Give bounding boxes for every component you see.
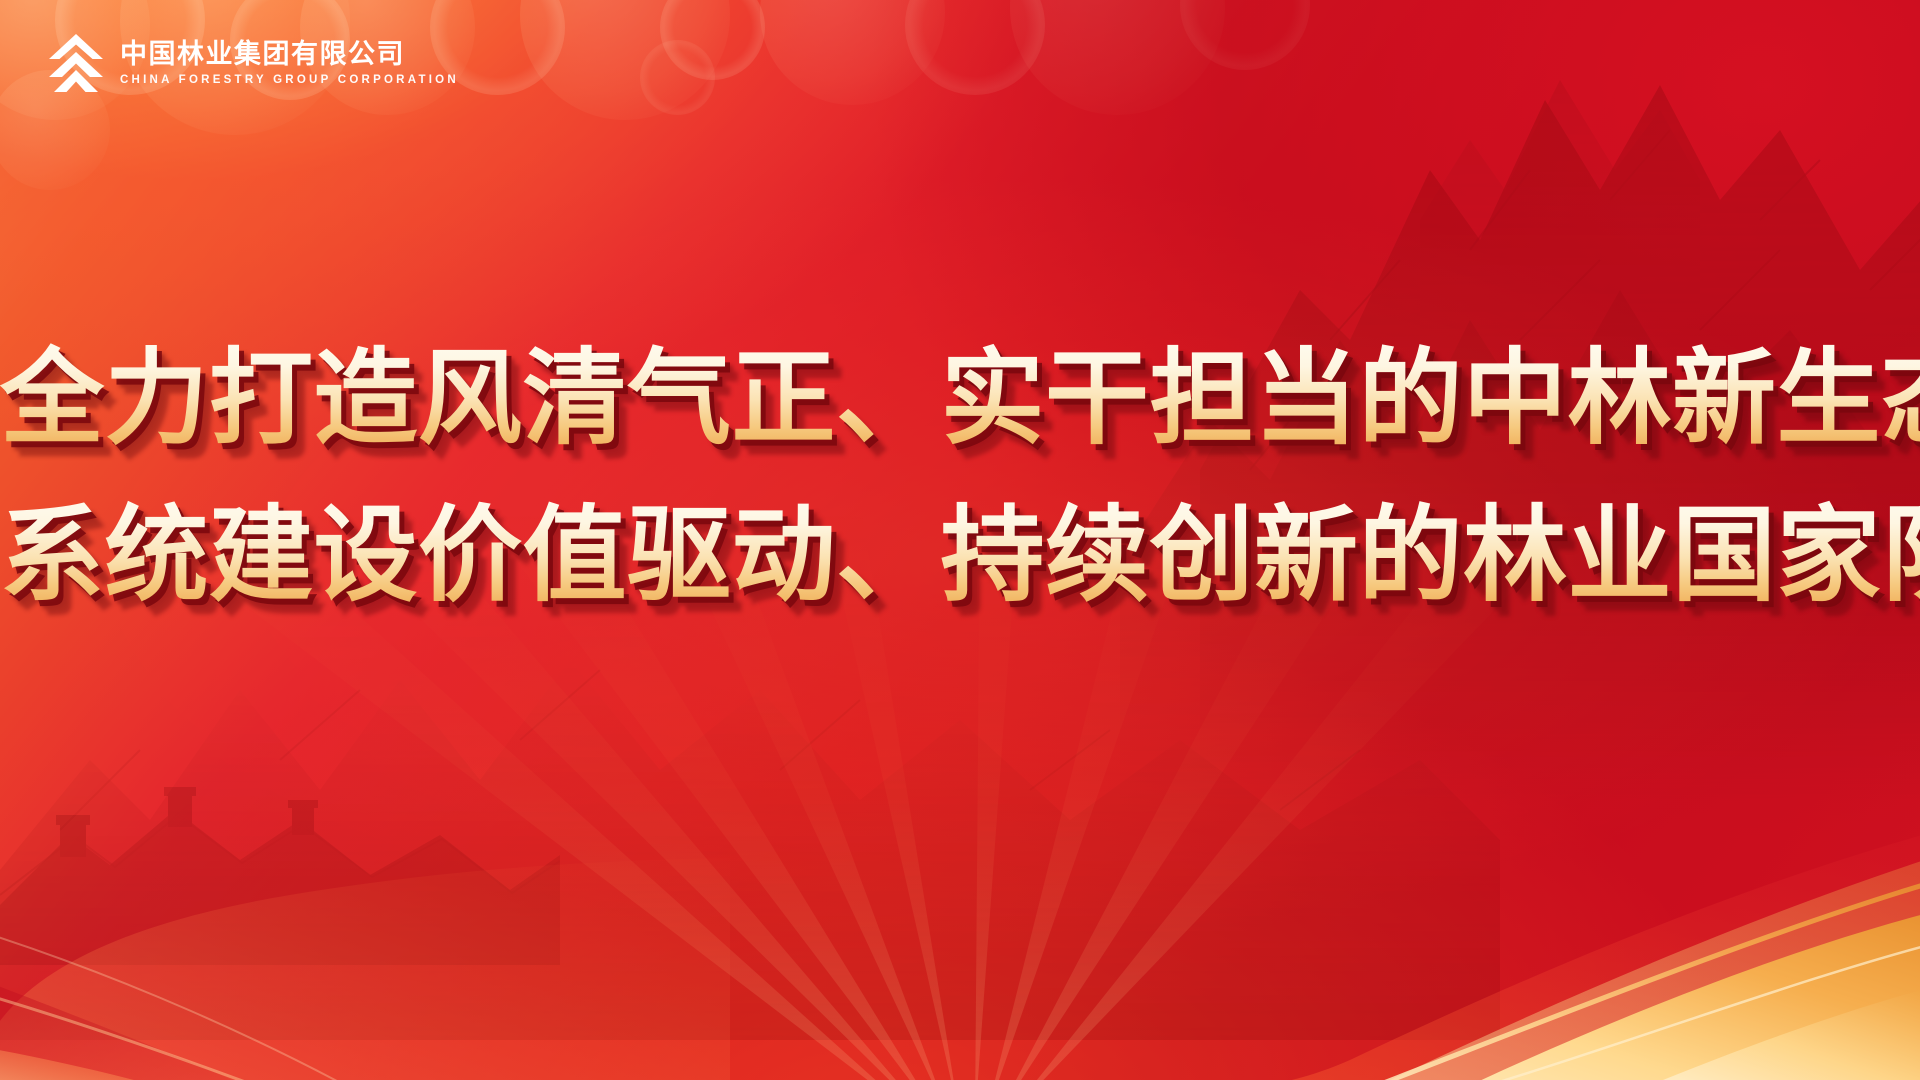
mountain-ink-texture-center [0, 570, 1500, 1040]
bokeh-light [660, 0, 765, 80]
headline-block: 全力打造风清气正、实干担当的中林新生态 系统建设价值驱动、持续创新的林业国家队 [0, 330, 1920, 627]
mountain-chevron-logo-icon [46, 32, 106, 94]
gold-ribbon-bottom-left [0, 810, 730, 1080]
logo-wordmark: 中国林业集团有限公司 CHINA FORESTRY GROUP CORPORAT… [120, 39, 459, 87]
headline-line-2: 系统建设价值驱动、持续创新的林业国家队 [0, 487, 1920, 626]
headline-line-1: 全力打造风清气正、实干担当的中林新生态 [0, 330, 1920, 469]
banner-canvas: 中国林业集团有限公司 CHINA FORESTRY GROUP CORPORAT… [0, 0, 1920, 1080]
gold-ribbon-bottom-right [920, 760, 1920, 1080]
bokeh-light [905, 0, 1045, 95]
bokeh-light [760, 0, 945, 105]
company-logo[interactable]: 中国林业集团有限公司 CHINA FORESTRY GROUP CORPORAT… [46, 32, 459, 94]
great-wall-silhouette [0, 715, 560, 965]
bokeh-light [1010, 0, 1225, 115]
bokeh-light [1180, 0, 1310, 70]
company-name-en: CHINA FORESTRY GROUP CORPORATION [120, 74, 459, 87]
bokeh-light [520, 0, 730, 120]
company-name-cn: 中国林业集团有限公司 [120, 39, 459, 69]
bokeh-light [640, 40, 715, 115]
